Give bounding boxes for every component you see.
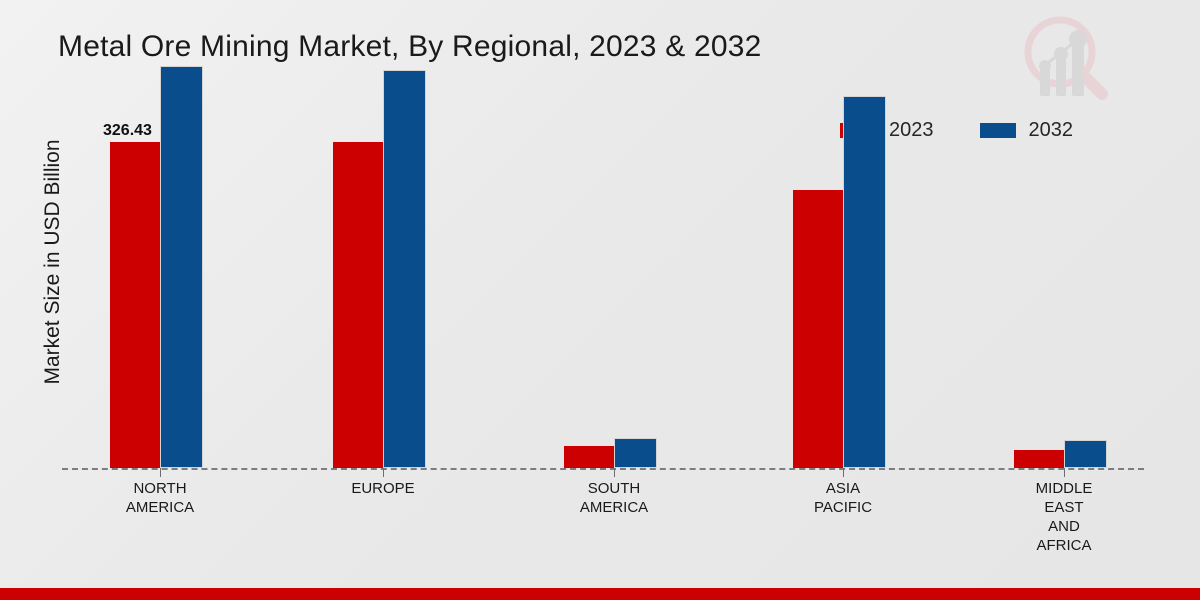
x-axis-tick bbox=[160, 468, 161, 477]
x-axis-label-middle-east-and-africa: MIDDLEEASTANDAFRICA bbox=[979, 479, 1149, 555]
x-axis-label-line: ASIA bbox=[758, 479, 928, 498]
x-axis-label-line: AND bbox=[979, 517, 1149, 536]
footer-accent-stripe bbox=[0, 588, 1200, 600]
bar-2032-middle-east-and-africa[interactable] bbox=[1064, 440, 1107, 468]
x-axis-label-line: PACIFIC bbox=[758, 498, 928, 517]
bar-2032-south-america[interactable] bbox=[614, 438, 657, 468]
bar-2023-asia-pacific[interactable] bbox=[793, 190, 843, 468]
x-axis-label-line: EAST bbox=[979, 498, 1149, 517]
bar-2032-europe[interactable] bbox=[383, 70, 426, 468]
bar-2032-north-america[interactable] bbox=[160, 66, 203, 468]
bar-2032-asia-pacific[interactable] bbox=[843, 96, 886, 468]
x-axis-label-south-america: SOUTHAMERICA bbox=[529, 479, 699, 517]
chart-canvas: Metal Ore Mining Market, By Regional, 20… bbox=[0, 0, 1200, 600]
x-axis-label-line: AMERICA bbox=[529, 498, 699, 517]
x-axis-label-europe: EUROPE bbox=[298, 479, 468, 498]
x-axis-label-line: AFRICA bbox=[979, 536, 1149, 555]
x-axis-tick bbox=[1064, 468, 1065, 477]
value-label-2023-north-america: 326.43 bbox=[103, 122, 152, 140]
x-axis-label-line: MIDDLE bbox=[979, 479, 1149, 498]
x-axis-tick bbox=[383, 468, 384, 477]
bar-2023-europe[interactable] bbox=[333, 142, 383, 468]
x-axis-label-line: NORTH bbox=[75, 479, 245, 498]
x-axis-label-north-america: NORTHAMERICA bbox=[75, 479, 245, 517]
x-axis-tick bbox=[614, 468, 615, 477]
x-axis-label-line: EUROPE bbox=[298, 479, 468, 498]
x-axis-baseline bbox=[62, 468, 1144, 470]
bar-2023-north-america[interactable] bbox=[110, 142, 160, 468]
x-axis-label-line: AMERICA bbox=[75, 498, 245, 517]
bar-2023-south-america[interactable] bbox=[564, 446, 614, 468]
bar-2023-middle-east-and-africa[interactable] bbox=[1014, 450, 1064, 468]
plot-area: 326.43NORTHAMERICAEUROPESOUTHAMERICAASIA… bbox=[0, 0, 1200, 600]
x-axis-label-asia-pacific: ASIAPACIFIC bbox=[758, 479, 928, 517]
x-axis-label-line: SOUTH bbox=[529, 479, 699, 498]
x-axis-tick bbox=[843, 468, 844, 477]
